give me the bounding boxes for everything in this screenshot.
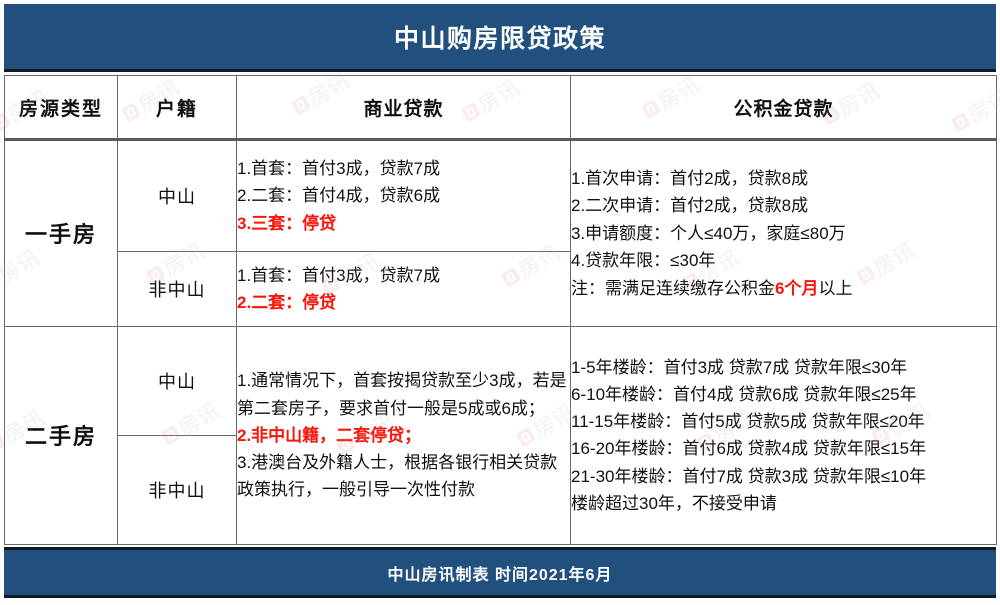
footer-text: 中山房讯制表 时间2021年6月 (388, 561, 613, 585)
cell-hukou-local-new: 中山 (118, 140, 237, 252)
table-header-row: 房源类型 户籍 商业贷款 公积金贷款 (5, 76, 997, 140)
note-suffix: 以上 (818, 279, 852, 298)
column-header-hukou: 户籍 (118, 76, 237, 140)
text-line: 1.首次申请：首付2成，贷款8成 (571, 165, 996, 193)
cell-fund-new: 1.首次申请：首付2成，贷款8成 2.二次申请：首付2成，贷款8成 3.申请额度… (571, 140, 997, 327)
footer-bar: 中山房讯制表 时间2021年6月 (4, 547, 996, 598)
table-row: 一手房 中山 1.首套：首付3成，贷款7成 2.二套：首付4成，贷款6成 3.三… (5, 140, 997, 252)
text-line: 2.二套：首付4成，贷款6成 (237, 182, 570, 210)
text-line: 6-10年楼龄：首付4成 贷款6成 贷款年限≤25年 (571, 381, 996, 408)
cell-house-type-new: 一手房 (5, 140, 118, 327)
text-line: 4.贷款年限：≤30年 (571, 247, 996, 275)
text-line: 2.二次申请：首付2成，贷款8成 (571, 192, 996, 220)
policy-table-page: 房讯 房讯 房讯 房讯 房讯 房讯 房讯 房讯 房讯 房讯 房讯 房讯 房讯 房… (0, 0, 1000, 605)
column-header-commercial-loan: 商业贷款 (237, 76, 571, 140)
note-highlight: 6个月 (775, 279, 818, 298)
text-line: 1.首套：首付3成，贷款7成 (237, 155, 570, 183)
column-header-house-type: 房源类型 (5, 76, 118, 140)
text-line: 1.首套：首付3成，贷款7成 (237, 262, 570, 290)
policy-table: 房源类型 户籍 商业贷款 公积金贷款 一手房 中山 1.首套：首付3成，贷款7成… (4, 75, 997, 545)
policy-table-container: 房源类型 户籍 商业贷款 公积金贷款 一手房 中山 1.首套：首付3成，贷款7成… (4, 75, 996, 545)
cell-hukou-nonlocal-new: 非中山 (118, 252, 237, 326)
cell-house-type-resale: 二手房 (5, 326, 118, 544)
cell-commercial-new-nonlocal: 1.首套：首付3成，贷款7成 2.二套：停贷 (237, 252, 571, 326)
cell-commercial-new-local: 1.首套：首付3成，贷款7成 2.二套：首付4成，贷款6成 3.三套：停贷 (237, 140, 571, 252)
cell-hukou-nonlocal-resale: 非中山 (118, 435, 237, 544)
note-prefix: 注：需满足连续缴存公积金 (571, 279, 775, 298)
text-line: 11-15年楼龄：首付5成 贷款5成 贷款年限≤20年 (571, 408, 996, 435)
text-line: 1-5年楼龄：首付3成 贷款7成 贷款年限≤30年 (571, 354, 996, 381)
text-line-highlight: 2.非中山籍，二套停贷； (237, 422, 570, 449)
cell-hukou-local-resale: 中山 (118, 326, 237, 435)
text-line: 楼龄超过30年，不接受申请 (571, 490, 996, 517)
page-title: 中山购房限贷政策 (4, 4, 996, 72)
cell-fund-resale: 1-5年楼龄：首付3成 贷款7成 贷款年限≤30年 6-10年楼龄：首付4成 贷… (571, 326, 997, 544)
text-line: 1.通常情况下，首套按揭贷款至少3成，若是第二套房子，要求首付一般是5成或6成； (237, 367, 570, 421)
page-title-text: 中山购房限贷政策 (394, 19, 606, 55)
cell-commercial-resale: 1.通常情况下，首套按揭贷款至少3成，若是第二套房子，要求首付一般是5成或6成；… (237, 326, 571, 544)
text-line-note: 注：需满足连续缴存公积金6个月以上 (571, 275, 996, 303)
text-line: 3.申请额度：个人≤40万，家庭≤80万 (571, 220, 996, 248)
text-line-highlight: 2.二套：停贷 (237, 289, 570, 317)
text-line-highlight: 3.三套：停贷 (237, 210, 570, 238)
table-row: 二手房 中山 1.通常情况下，首套按揭贷款至少3成，若是第二套房子，要求首付一般… (5, 326, 997, 435)
text-line: 21-30年楼龄：首付7成 贷款3成 贷款年限≤10年 (571, 463, 996, 490)
text-line: 16-20年楼龄：首付6成 贷款4成 贷款年限≤15年 (571, 435, 996, 462)
column-header-fund-loan: 公积金贷款 (571, 76, 997, 140)
table-body: 一手房 中山 1.首套：首付3成，贷款7成 2.二套：首付4成，贷款6成 3.三… (5, 140, 997, 545)
table-header: 房源类型 户籍 商业贷款 公积金贷款 (5, 76, 997, 140)
text-line: 3.港澳台及外籍人士，根据各银行相关贷款政策执行，一般引导一次性付款 (237, 449, 570, 503)
watermark-logo-icon (0, 272, 1, 292)
